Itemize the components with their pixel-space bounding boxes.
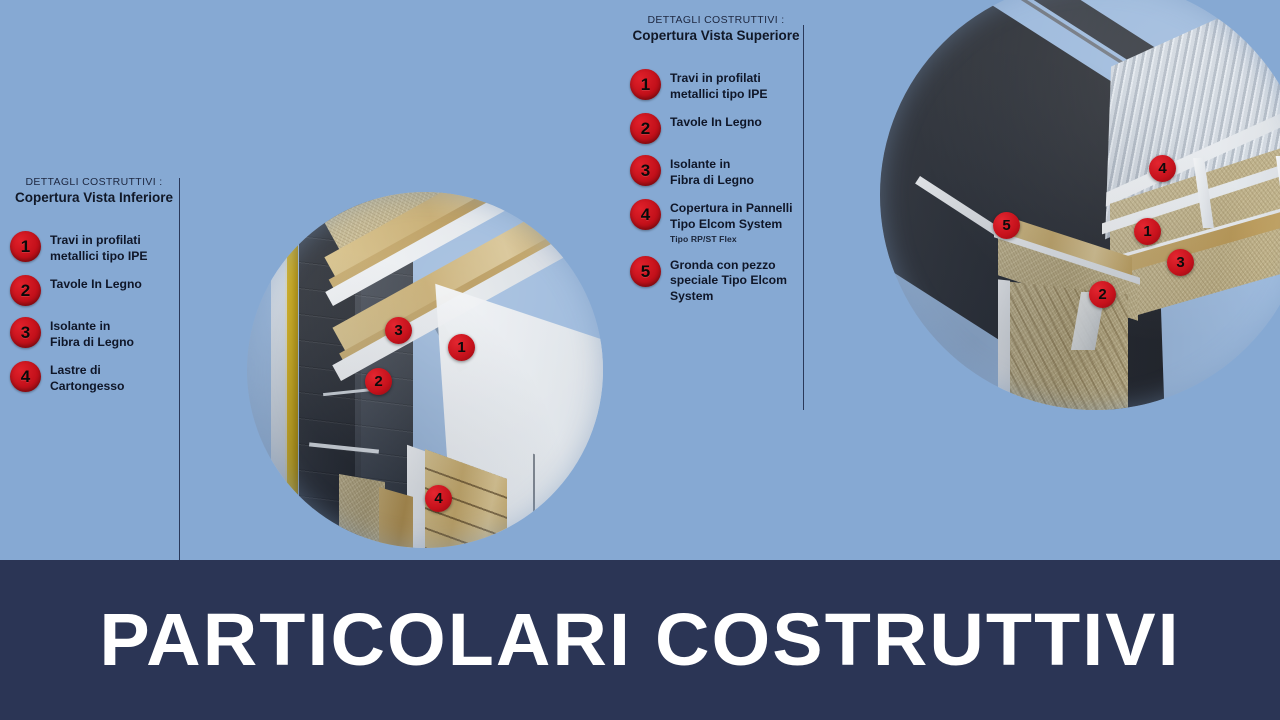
page-title: PARTICOLARI COSTRUTTIVI xyxy=(99,603,1180,677)
legend-number-badge: 3 xyxy=(630,155,661,186)
callout-pin-5: 5 xyxy=(993,212,1020,239)
callout-pin-1: 1 xyxy=(448,334,475,361)
legend-number-badge: 2 xyxy=(630,113,661,144)
legend-number-badge: 5 xyxy=(630,256,661,287)
legend-label: Isolante in Fibra di Legno xyxy=(670,155,754,188)
legend-items-superiore: 1Travi in profilati metallici tipo IPE2T… xyxy=(630,69,802,304)
legend-row: 1Travi in profilati metallici tipo IPE xyxy=(10,231,178,264)
legend-number-badge: 1 xyxy=(10,231,41,262)
legend-label: Gronda con pezzo speciale Tipo Elcom Sys… xyxy=(670,256,787,305)
legend-subject: Copertura Vista Inferiore xyxy=(10,190,178,207)
legend-label: Tavole In Legno xyxy=(670,113,762,131)
legend-header-superiore: DETTAGLI COSTRUTTIVI : Copertura Vista S… xyxy=(630,14,802,45)
legend-label: Lastre di Cartongesso xyxy=(50,361,125,394)
legend-kicker: DETTAGLI COSTRUTTIVI : xyxy=(10,176,178,189)
title-banner: PARTICOLARI COSTRUTTIVI xyxy=(0,560,1280,720)
legend-number-badge: 4 xyxy=(630,199,661,230)
legend-header-inferiore: DETTAGLI COSTRUTTIVI : Copertura Vista I… xyxy=(10,176,178,207)
legend-label: Isolante in Fibra di Legno xyxy=(50,317,134,350)
callout-pin-4: 4 xyxy=(425,485,452,512)
legend-panel-inferiore: DETTAGLI COSTRUTTIVI : Copertura Vista I… xyxy=(10,176,178,406)
legend-divider-left xyxy=(179,178,180,566)
legend-row: 5Gronda con pezzo speciale Tipo Elcom Sy… xyxy=(630,256,802,305)
slide-canvas: 312445132 DETTAGLI COSTRUTTIVI : Copertu… xyxy=(0,0,1280,720)
legend-row: 3Isolante in Fibra di Legno xyxy=(630,155,802,188)
callout-pin-2: 2 xyxy=(1089,281,1116,308)
legend-subject: Copertura Vista Superiore xyxy=(630,28,802,45)
legend-number-badge: 4 xyxy=(10,361,41,392)
legend-label: Copertura in Pannelli Tipo Elcom SystemT… xyxy=(670,199,793,244)
legend-items-inferiore: 1Travi in profilati metallici tipo IPE2T… xyxy=(10,231,178,395)
callout-pin-4: 4 xyxy=(1149,155,1176,182)
legend-row: 1Travi in profilati metallici tipo IPE xyxy=(630,69,802,102)
legend-label: Travi in profilati metallici tipo IPE xyxy=(50,231,148,264)
legend-label: Travi in profilati metallici tipo IPE xyxy=(670,69,768,102)
render-scene-topside xyxy=(880,0,1280,410)
figure-roof-topside xyxy=(880,0,1280,410)
callout-pin-3: 3 xyxy=(385,317,412,344)
callout-pin-1: 1 xyxy=(1134,218,1161,245)
legend-number-badge: 1 xyxy=(630,69,661,100)
legend-label: Tavole In Legno xyxy=(50,275,142,293)
legend-row: 4Lastre di Cartongesso xyxy=(10,361,178,394)
scene-lighting-2 xyxy=(880,0,1280,410)
legend-number-badge: 3 xyxy=(10,317,41,348)
callout-pin-3: 3 xyxy=(1167,249,1194,276)
callout-pin-2: 2 xyxy=(365,368,392,395)
legend-kicker: DETTAGLI COSTRUTTIVI : xyxy=(630,14,802,27)
legend-number-badge: 2 xyxy=(10,275,41,306)
legend-row: 2Tavole In Legno xyxy=(10,275,178,306)
legend-row: 2Tavole In Legno xyxy=(630,113,802,144)
legend-divider-center xyxy=(803,25,804,410)
legend-panel-superiore: DETTAGLI COSTRUTTIVI : Copertura Vista S… xyxy=(630,14,802,315)
legend-sublabel: Tipo RP/ST Flex xyxy=(670,234,793,245)
legend-row: 4Copertura in Pannelli Tipo Elcom System… xyxy=(630,199,802,244)
legend-row: 3Isolante in Fibra di Legno xyxy=(10,317,178,350)
